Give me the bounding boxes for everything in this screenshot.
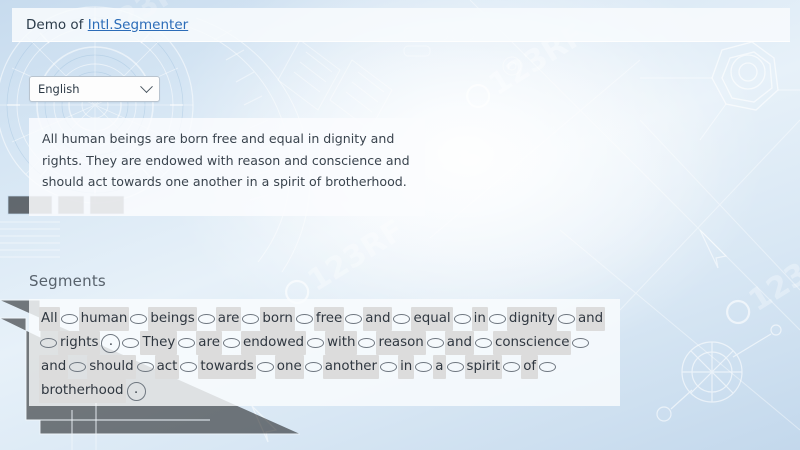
segment-space-separator <box>475 338 492 348</box>
segment-word: brotherhood <box>39 379 126 403</box>
source-text-input[interactable]: All human beings are born free and equal… <box>29 118 425 216</box>
segment-word: endowed <box>241 331 306 355</box>
segment-word: equal <box>411 307 452 331</box>
segment-space-separator <box>358 338 375 348</box>
segment-word: and <box>363 307 392 331</box>
segment-space-separator <box>345 314 362 324</box>
segment-word: free <box>314 307 344 331</box>
segment-space-separator <box>296 314 313 324</box>
segment-space-separator <box>130 314 147 324</box>
segment-word: human <box>79 307 130 331</box>
language-select[interactable]: English <box>29 76 160 102</box>
page-title-prefix: Demo of <box>26 17 88 33</box>
segment-word: one <box>275 355 304 379</box>
segment-word: born <box>260 307 294 331</box>
segment-word: a <box>433 355 445 379</box>
segment-space-separator <box>415 362 432 372</box>
segment-space-separator <box>558 314 575 324</box>
segments-heading: Segments <box>29 272 106 290</box>
segment-word: reason <box>376 331 425 355</box>
segment-word: dignity <box>507 307 557 331</box>
segment-space-separator <box>223 338 240 348</box>
segment-space-separator <box>61 314 78 324</box>
segment-space-separator <box>393 314 410 324</box>
segment-word: and <box>576 307 605 331</box>
svg-text:123RF: 123RF <box>743 233 800 319</box>
language-select-wrapper: English <box>29 76 160 102</box>
segment-word: and <box>39 355 68 379</box>
segment-space-separator <box>489 314 506 324</box>
segment-space-separator <box>69 362 86 372</box>
segment-space-separator <box>539 362 556 372</box>
segment-word: with <box>325 331 357 355</box>
segment-space-separator <box>198 314 215 324</box>
segment-word: towards <box>198 355 255 379</box>
segment-word: are <box>216 307 242 331</box>
segment-space-separator <box>454 314 471 324</box>
segment-word: and <box>445 331 474 355</box>
segment-space-separator <box>305 362 322 372</box>
segment-word: beings <box>148 307 196 331</box>
segment-space-separator <box>503 362 520 372</box>
segment-space-separator <box>307 338 324 348</box>
segment-word: should <box>87 355 135 379</box>
segment-word: in <box>472 307 488 331</box>
segment-word: They <box>140 331 177 355</box>
app-page: 123RF 123RF 123RF 123RF Demo of Intl.Seg… <box>0 0 800 450</box>
segments-panel: Allhumanbeingsarebornfreeandequalindigni… <box>29 299 620 406</box>
segment-space-separator <box>122 338 139 348</box>
segment-word: in <box>398 355 414 379</box>
segment-word: of <box>521 355 538 379</box>
segment-space-separator <box>572 338 589 348</box>
segment-space-separator <box>447 362 464 372</box>
segment-word: another <box>323 355 379 379</box>
segment-space-separator <box>137 362 154 372</box>
segment-word: act <box>155 355 180 379</box>
segment-space-separator <box>178 338 195 348</box>
intl-segmenter-link[interactable]: Intl.Segmenter <box>88 17 188 33</box>
segment-space-separator <box>242 314 259 324</box>
segment-word: rights <box>58 331 100 355</box>
page-title: Demo of Intl.Segmenter <box>26 17 188 33</box>
segment-space-separator <box>427 338 444 348</box>
segment-space-separator <box>380 362 397 372</box>
segment-punctuation: . <box>101 334 120 353</box>
segment-space-separator <box>40 338 57 348</box>
segment-punctuation: . <box>127 382 146 401</box>
segment-word: are <box>196 331 222 355</box>
page-header: Demo of Intl.Segmenter <box>12 8 790 42</box>
segment-space-separator <box>257 362 274 372</box>
svg-text:123RF: 123RF <box>302 213 411 299</box>
segment-word: spirit <box>465 355 503 379</box>
chevron-down-icon <box>140 80 153 93</box>
segment-space-separator <box>180 362 197 372</box>
segments-list: Allhumanbeingsarebornfreeandequalindigni… <box>39 307 610 403</box>
language-select-value: English <box>38 82 142 96</box>
segment-word: conscience <box>493 331 571 355</box>
segment-word: All <box>39 307 60 331</box>
